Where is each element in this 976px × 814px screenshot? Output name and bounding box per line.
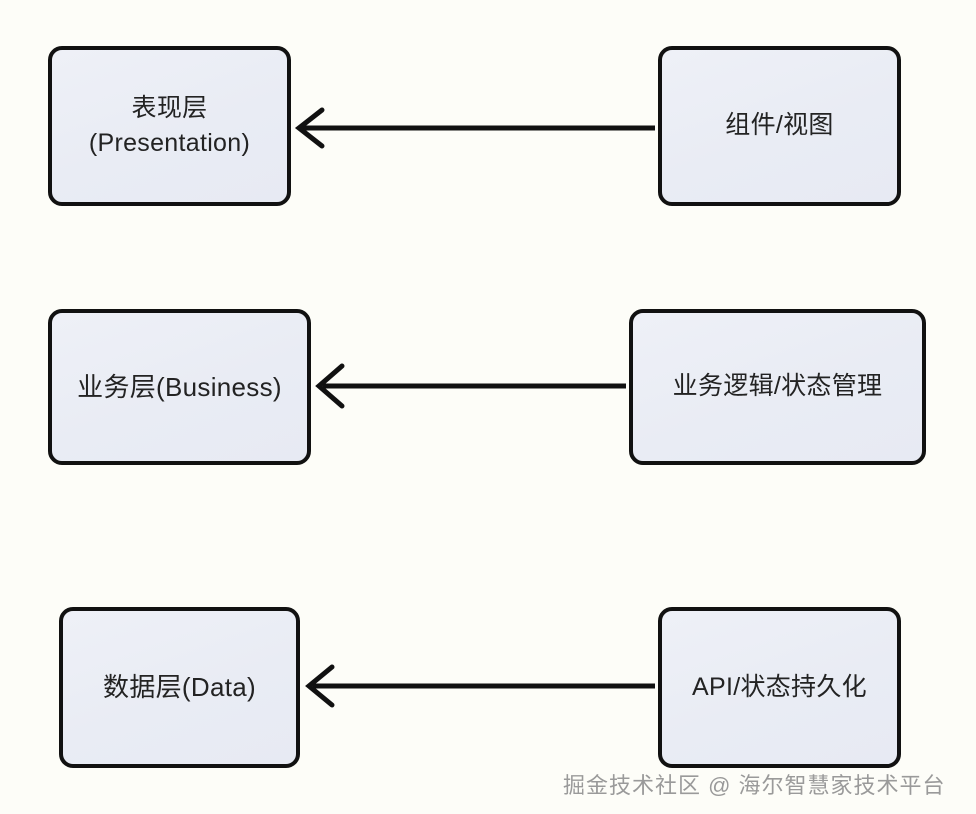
node-api-persistence-label: API/状态持久化: [682, 670, 877, 706]
node-presentation-layer-label: 表现层 (Presentation): [79, 91, 260, 162]
node-component-view-label: 组件/视图: [715, 108, 843, 144]
node-presentation-layer[interactable]: 表现层 (Presentation): [48, 46, 291, 206]
node-data-layer[interactable]: 数据层(Data): [59, 607, 300, 768]
node-business-logic-state[interactable]: 业务逻辑/状态管理: [629, 309, 926, 465]
arrow-component-to-presentation: [299, 110, 655, 146]
architecture-diagram: 表现层 (Presentation) 组件/视图 业务层(Business) 业…: [0, 0, 976, 814]
node-business-layer-label: 业务层(Business): [67, 369, 292, 406]
node-business-layer[interactable]: 业务层(Business): [48, 309, 311, 465]
node-data-layer-label: 数据层(Data): [93, 669, 266, 706]
arrow-api-to-data: [309, 667, 655, 705]
node-api-persistence[interactable]: API/状态持久化: [658, 607, 901, 768]
node-component-view[interactable]: 组件/视图: [658, 46, 901, 206]
node-business-logic-state-label: 业务逻辑/状态管理: [663, 369, 893, 405]
arrow-business-logic-to-business: [319, 366, 626, 406]
watermark-text: 掘金技术社区 @ 海尔智慧家技术平台: [563, 768, 946, 800]
